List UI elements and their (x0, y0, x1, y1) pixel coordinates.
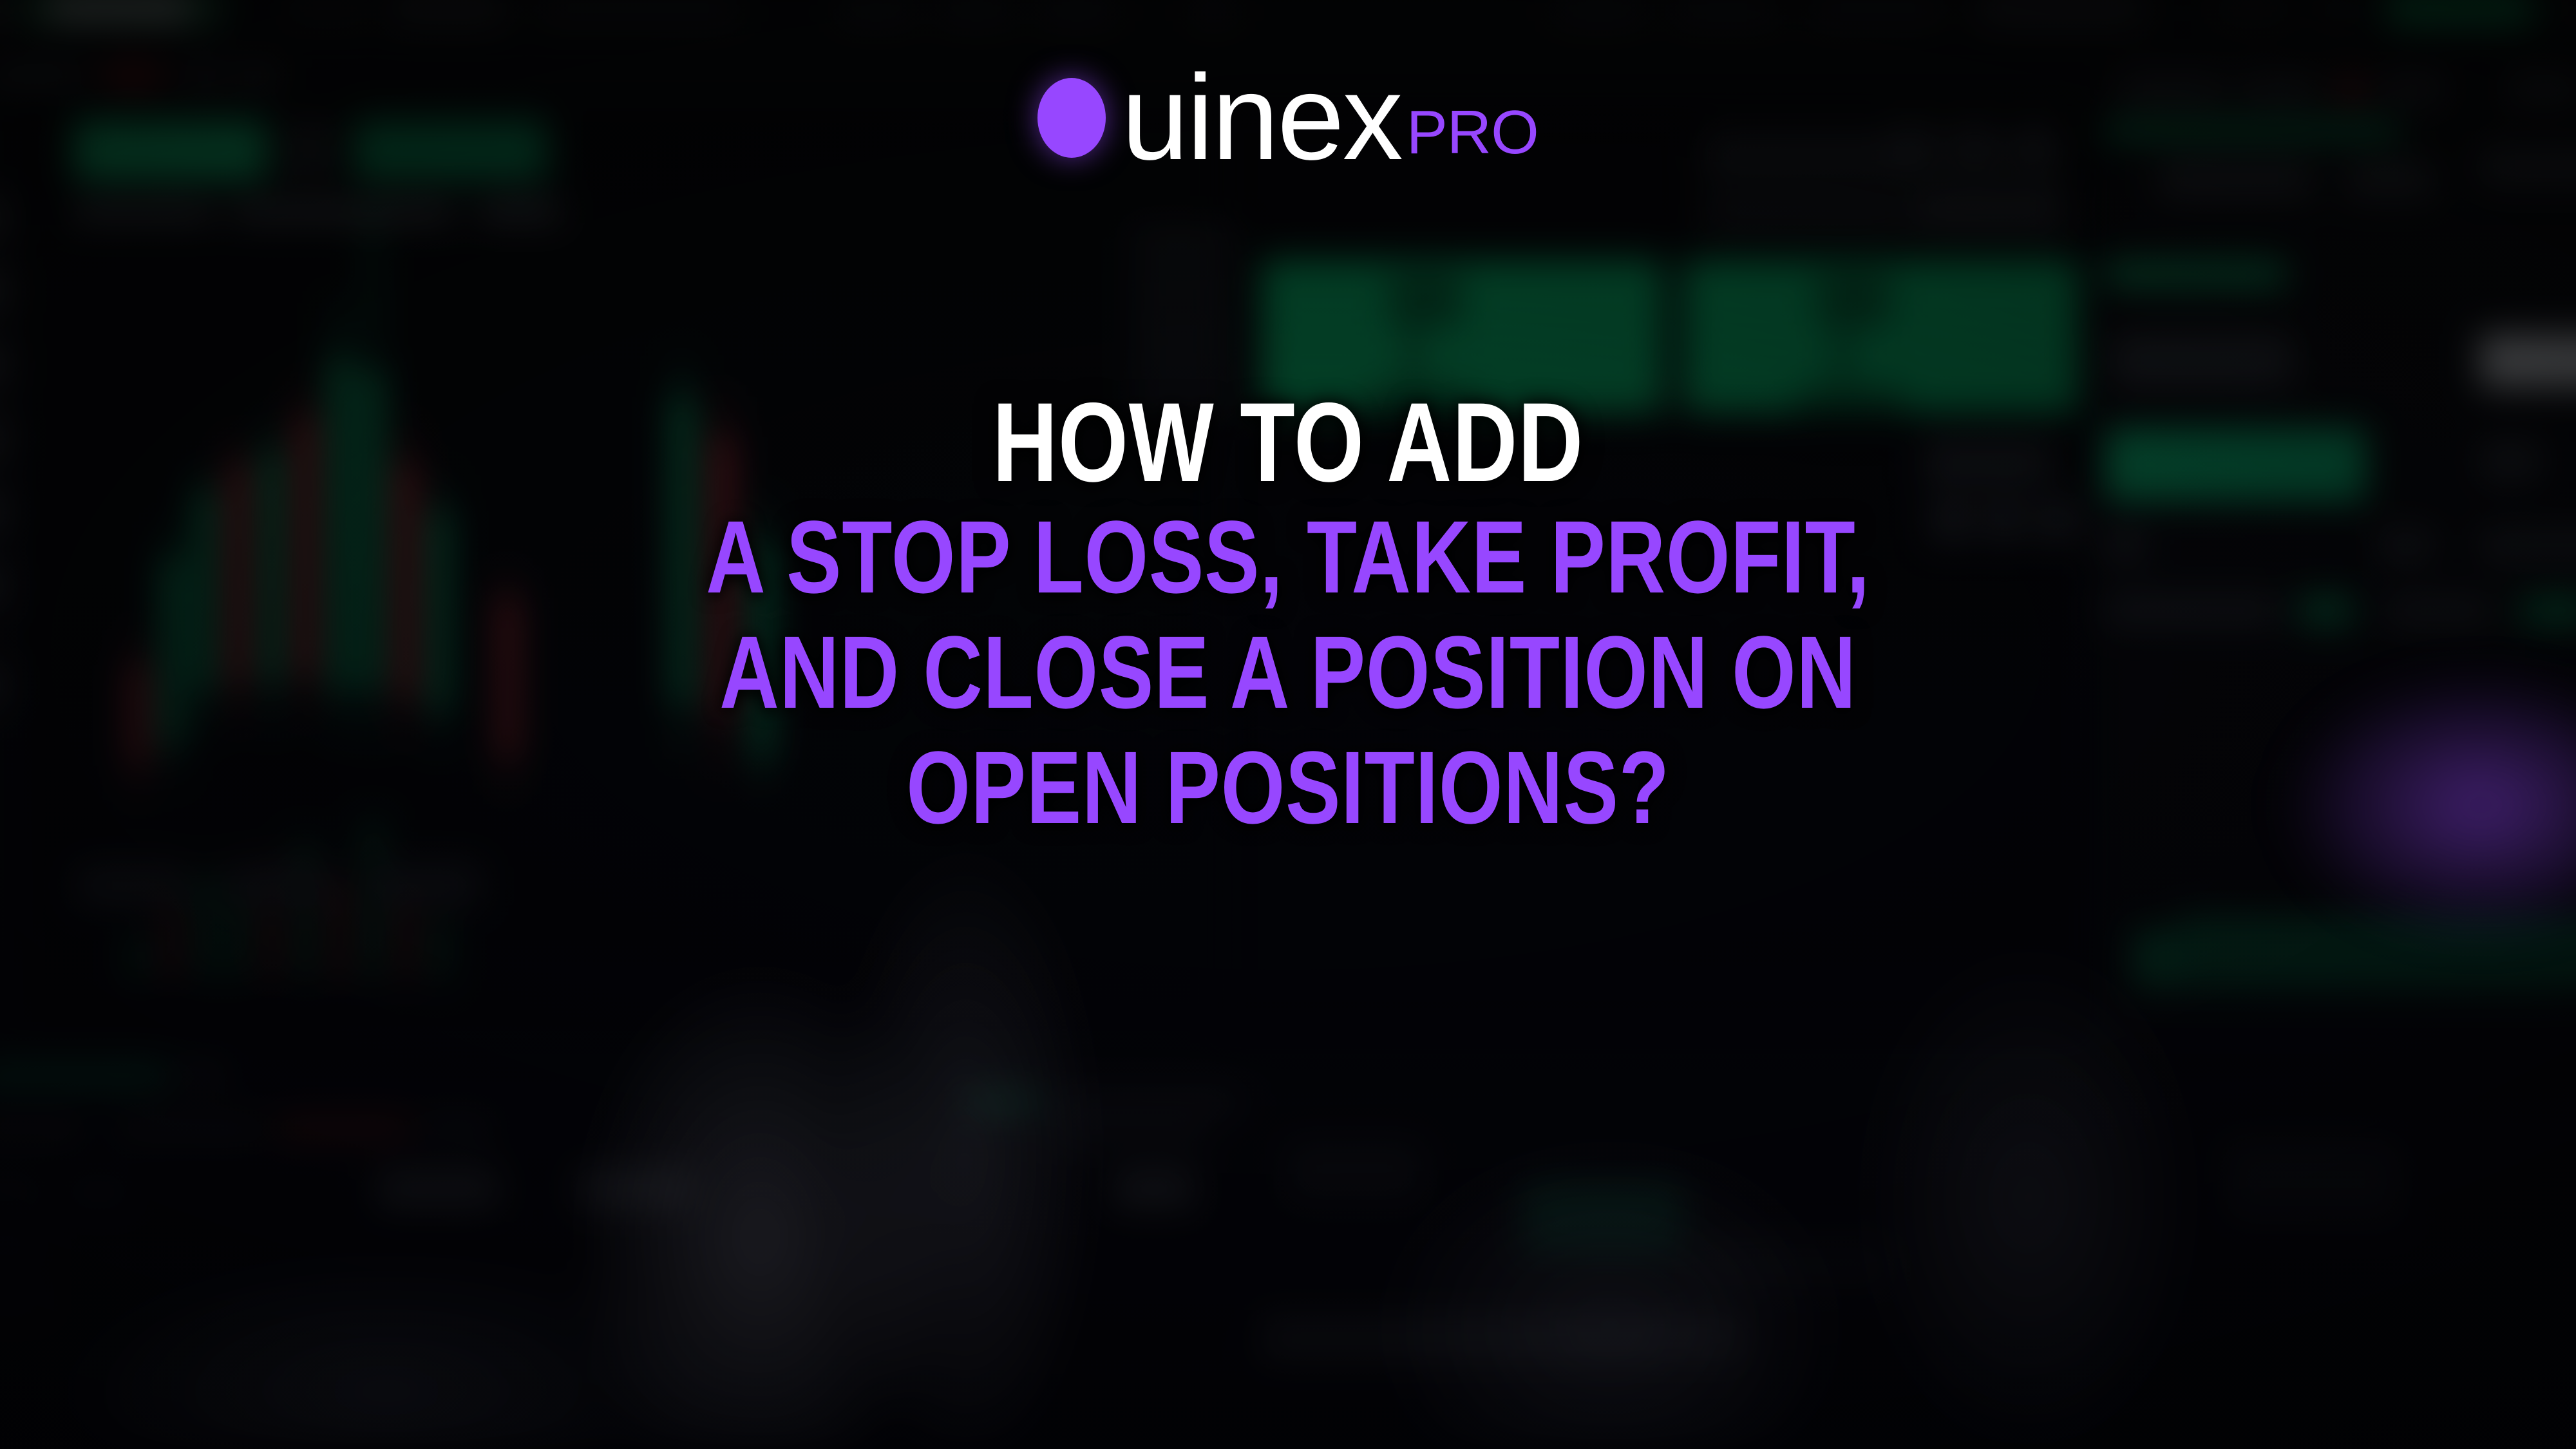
headline-line-4: OPEN POSITIONS? (258, 730, 2318, 845)
thumbnail-canvas: uinex PRO HOW TO ADD A STOP LOSS, TAKE P… (0, 0, 2576, 1449)
headline-block: HOW TO ADD A STOP LOSS, TAKE PROFIT, AND… (0, 386, 2576, 846)
headline-line-3: AND CLOSE A POSITION ON (258, 614, 2318, 730)
brand-logo: uinex PRO (0, 64, 2576, 171)
purple-circle-icon (1037, 78, 1106, 158)
brand-pro-suffix: PRO (1406, 97, 1539, 168)
foreground-content: uinex PRO HOW TO ADD A STOP LOSS, TAKE P… (0, 0, 2576, 1449)
brand-wordmark: uinex (1121, 64, 1401, 171)
headline-line-1: HOW TO ADD (258, 386, 2318, 499)
headline-line-2: A STOP LOSS, TAKE PROFIT, (258, 499, 2318, 614)
